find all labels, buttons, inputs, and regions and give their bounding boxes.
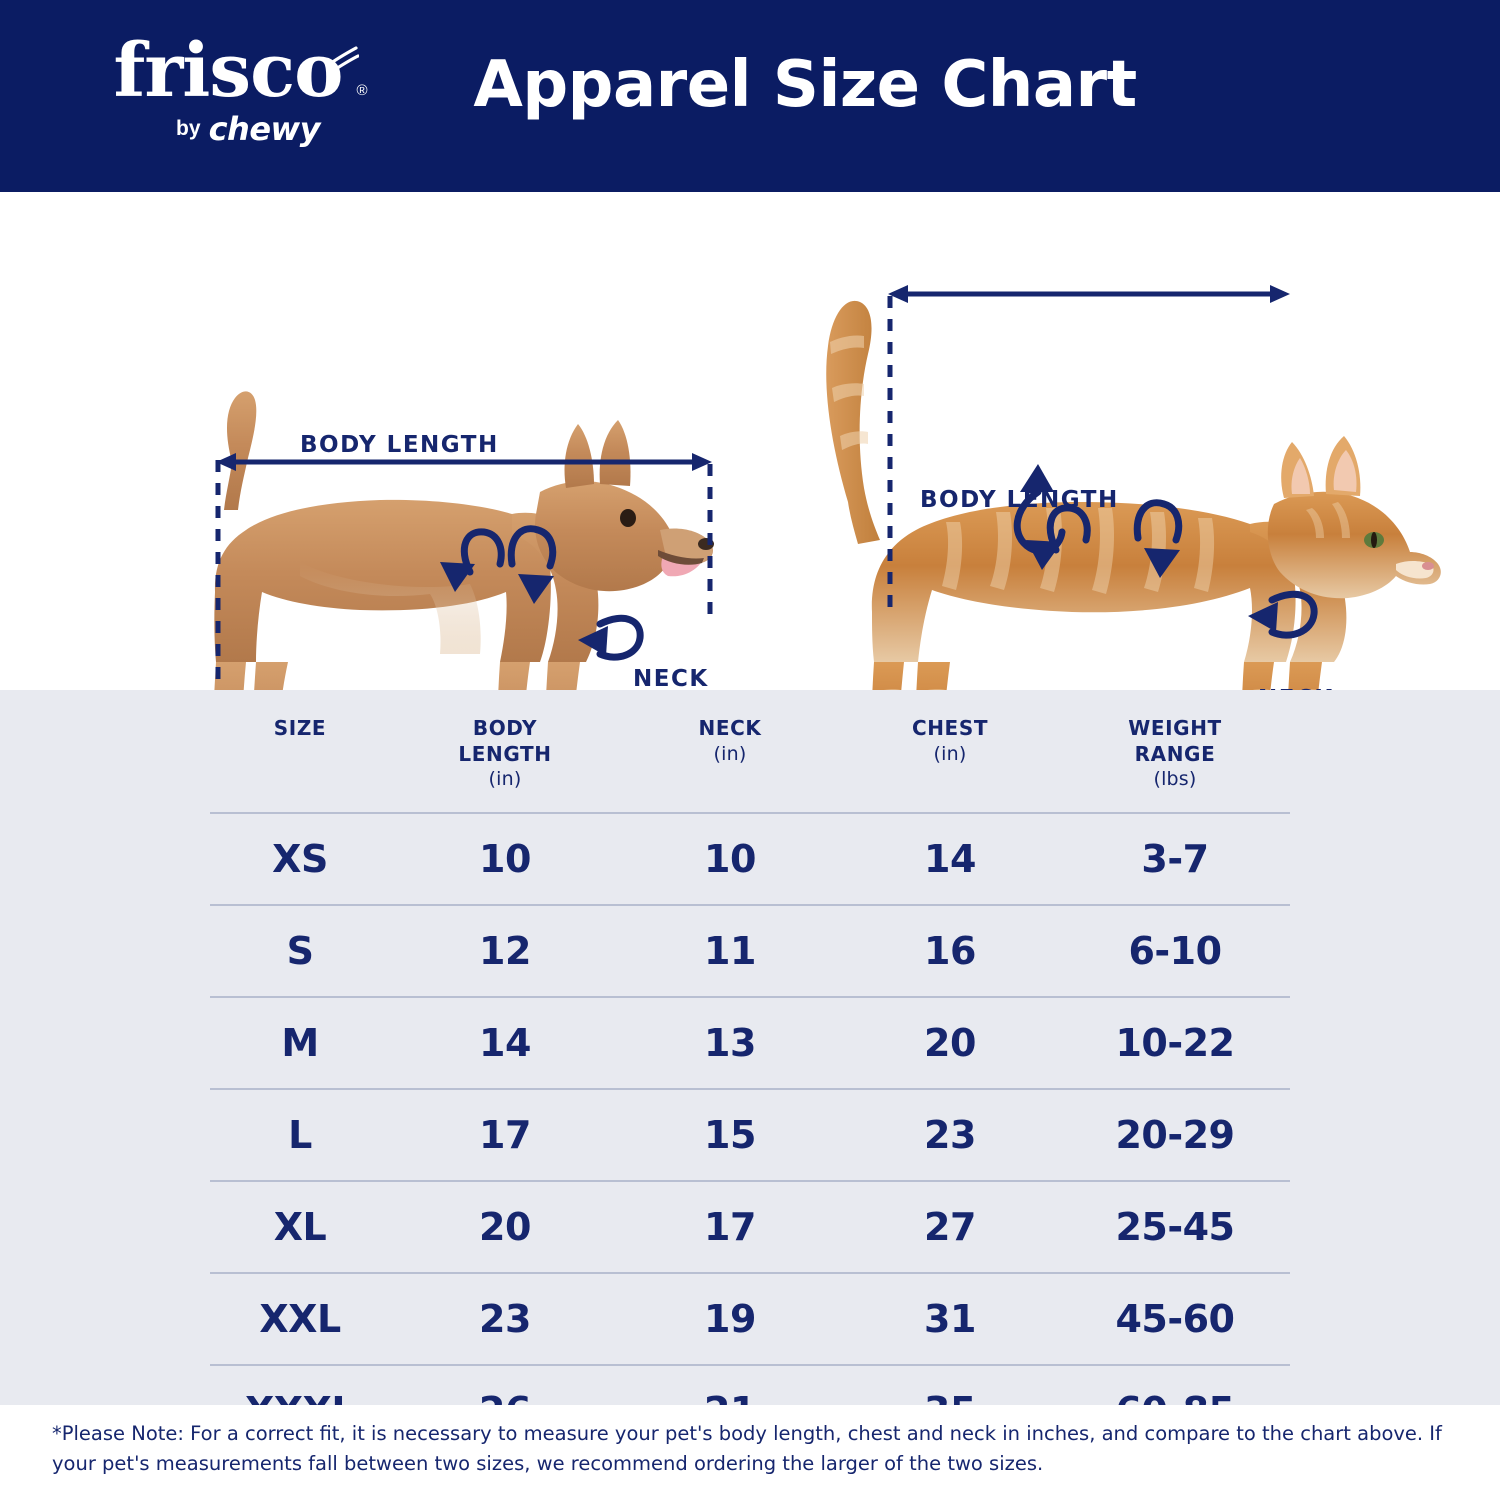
cat-pupil — [1371, 532, 1377, 548]
dog-leg-front-2 — [498, 662, 530, 690]
cat-head — [1268, 492, 1441, 599]
col-header-size-label: SIZE — [274, 716, 326, 740]
cell-chest: 20 — [840, 997, 1060, 1089]
dog-leg-front-1 — [545, 662, 580, 690]
col-header-weight-line2: RANGE — [1135, 742, 1216, 766]
cell-body-length: 14 — [390, 997, 620, 1089]
size-table-section: SIZE BODY LENGTH (in) NECK (in) CHEST (i… — [0, 690, 1500, 1405]
cell-neck: 17 — [620, 1181, 840, 1273]
footnote-text: *Please Note: For a correct fit, it is n… — [0, 1405, 1500, 1500]
cell-body-length: 17 — [390, 1089, 620, 1181]
dog-body-length-label: BODY LENGTH — [300, 432, 499, 458]
cell-size: XL — [210, 1181, 390, 1273]
cell-chest: 31 — [840, 1273, 1060, 1365]
table-row: M 14 13 20 10-22 — [210, 997, 1290, 1089]
cell-weight: 45-60 — [1060, 1273, 1290, 1365]
dog-ear-front — [600, 420, 631, 486]
cat-illustration — [760, 192, 1500, 690]
col-header-chest: CHEST (in) — [840, 690, 1060, 813]
page-header: frisco ® by chewy Apparel Size Chart — [0, 0, 1500, 192]
cell-body-length: 20 — [390, 1181, 620, 1273]
cell-weight: 3-7 — [1060, 813, 1290, 905]
cell-body-length: 10 — [390, 813, 620, 905]
dog-ear-back — [565, 424, 595, 488]
cell-weight: 6-10 — [1060, 905, 1290, 997]
cat-nose — [1422, 562, 1434, 570]
cell-neck: 10 — [620, 813, 840, 905]
size-table-body: XS 10 10 14 3-7 S 12 11 16 6-10 M 14 13 — [210, 813, 1290, 1457]
cell-weight: 20-29 — [1060, 1089, 1290, 1181]
table-row: L 17 15 23 20-29 — [210, 1089, 1290, 1181]
dog-neck-label: NECK — [633, 666, 709, 692]
cell-size: XS — [210, 813, 390, 905]
cell-size: M — [210, 997, 390, 1089]
dog-leg-back-1 — [252, 662, 288, 690]
col-header-neck-unit: (in) — [620, 742, 840, 766]
col-header-chest-label: CHEST — [912, 716, 988, 740]
col-header-weight-line1: WEIGHT — [1128, 716, 1222, 740]
size-table-header: SIZE BODY LENGTH (in) NECK (in) CHEST (i… — [210, 690, 1290, 813]
cell-neck: 13 — [620, 997, 840, 1089]
col-header-size: SIZE — [210, 690, 390, 813]
col-header-body-length-line1: BODY — [473, 716, 537, 740]
cell-chest: 23 — [840, 1089, 1060, 1181]
cell-size: L — [210, 1089, 390, 1181]
dog-tail — [224, 391, 256, 510]
cat-body-length-label: BODY LENGTH — [920, 487, 1119, 513]
size-chart-page: frisco ® by chewy Apparel Size Chart — [0, 0, 1500, 1500]
col-header-body-length-unit: (in) — [390, 767, 620, 791]
table-row: S 12 11 16 6-10 — [210, 905, 1290, 997]
table-row: XL 20 17 27 25-45 — [210, 1181, 1290, 1273]
cat-leg-back-2 — [872, 662, 906, 690]
measurement-illustrations: BODY LENGTH NECK CHEST — [0, 192, 1500, 690]
dog-body — [214, 500, 551, 662]
col-header-body-length-line2: LENGTH — [458, 742, 551, 766]
size-table: SIZE BODY LENGTH (in) NECK (in) CHEST (i… — [210, 690, 1290, 1458]
col-header-chest-unit: (in) — [840, 742, 1060, 766]
dog-eye — [620, 509, 636, 527]
col-header-weight-range: WEIGHT RANGE (lbs) — [1060, 690, 1290, 813]
col-header-weight-unit: (lbs) — [1060, 767, 1290, 791]
col-header-neck-label: NECK — [699, 716, 762, 740]
header-row: SIZE BODY LENGTH (in) NECK (in) CHEST (i… — [210, 690, 1290, 813]
cell-body-length: 12 — [390, 905, 620, 997]
cell-neck: 19 — [620, 1273, 840, 1365]
cell-size: S — [210, 905, 390, 997]
col-header-body-length: BODY LENGTH (in) — [390, 690, 620, 813]
cell-chest: 14 — [840, 813, 1060, 905]
table-row: XXL 23 19 31 45-60 — [210, 1273, 1290, 1365]
cell-neck: 15 — [620, 1089, 840, 1181]
cell-body-length: 23 — [390, 1273, 620, 1365]
cell-chest: 16 — [840, 905, 1060, 997]
page-title: Apparel Size Chart — [0, 48, 1500, 122]
cell-weight: 10-22 — [1060, 997, 1290, 1089]
cell-size: XXL — [210, 1273, 390, 1365]
cell-chest: 27 — [840, 1181, 1060, 1273]
col-header-neck: NECK (in) — [620, 690, 840, 813]
cell-neck: 11 — [620, 905, 840, 997]
cell-weight: 25-45 — [1060, 1181, 1290, 1273]
table-row: XS 10 10 14 3-7 — [210, 813, 1290, 905]
cat-leg-back-1 — [915, 662, 950, 690]
